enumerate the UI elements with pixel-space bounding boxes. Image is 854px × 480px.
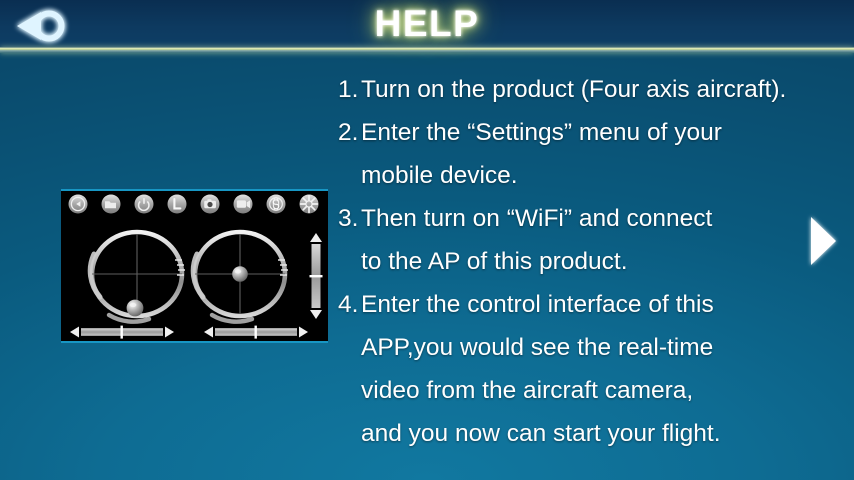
instruction-text: Then turn on “WiFi” and connect (361, 205, 838, 233)
instruction-line: and you now can start your flight. (338, 420, 838, 463)
instruction-text: Enter the “Settings” menu of your (361, 119, 838, 147)
instruction-line: 1. Turn on the product (Four axis aircra… (338, 76, 838, 119)
letter-l-icon (168, 195, 187, 214)
instruction-line: video from the aircraft camera, (338, 377, 838, 420)
header-bar: HELP (0, 0, 854, 50)
instruction-text: and you now can start your flight. (361, 420, 838, 448)
video-camera-icon (234, 195, 253, 214)
instruction-number: 1. (338, 76, 361, 104)
power-icon (135, 195, 154, 214)
preview-image (61, 191, 328, 341)
camera-icon (201, 195, 220, 214)
instruction-line: to the AP of this product. (338, 248, 838, 291)
instruction-list: 1. Turn on the product (Four axis aircra… (338, 76, 838, 463)
instruction-text: Turn on the product (Four axis aircraft)… (361, 76, 838, 104)
instruction-text: to the AP of this product. (361, 248, 838, 276)
instruction-line: 2. Enter the “Settings” menu of your (338, 119, 838, 162)
joystick-knob (127, 300, 144, 317)
instruction-number: 2. (338, 119, 361, 147)
gyro-icon (267, 195, 286, 214)
control-interface-preview (61, 189, 328, 343)
compass-icon (300, 195, 319, 214)
instruction-text: Enter the control interface of this (361, 291, 838, 319)
instruction-line: 4. Enter the control interface of this (338, 291, 838, 334)
instruction-line: mobile device. (338, 162, 838, 205)
instruction-line: APP,you would see the real-time (338, 334, 838, 377)
instruction-text: mobile device. (361, 162, 838, 190)
instruction-text: video from the aircraft camera, (361, 377, 838, 405)
instruction-number: 4. (338, 291, 361, 319)
back-arrow-icon (69, 195, 88, 214)
instruction-number: 3. (338, 205, 361, 233)
folder-icon (102, 195, 121, 214)
help-screen: HELP 1. Turn on the product (Four axis a… (0, 0, 854, 480)
header-divider (0, 47, 854, 53)
joystick-knob (232, 266, 248, 282)
instruction-line: 3. Then turn on “WiFi” and connect (338, 205, 838, 248)
page-title: HELP (0, 3, 854, 45)
instruction-text: APP,you would see the real-time (361, 334, 838, 362)
